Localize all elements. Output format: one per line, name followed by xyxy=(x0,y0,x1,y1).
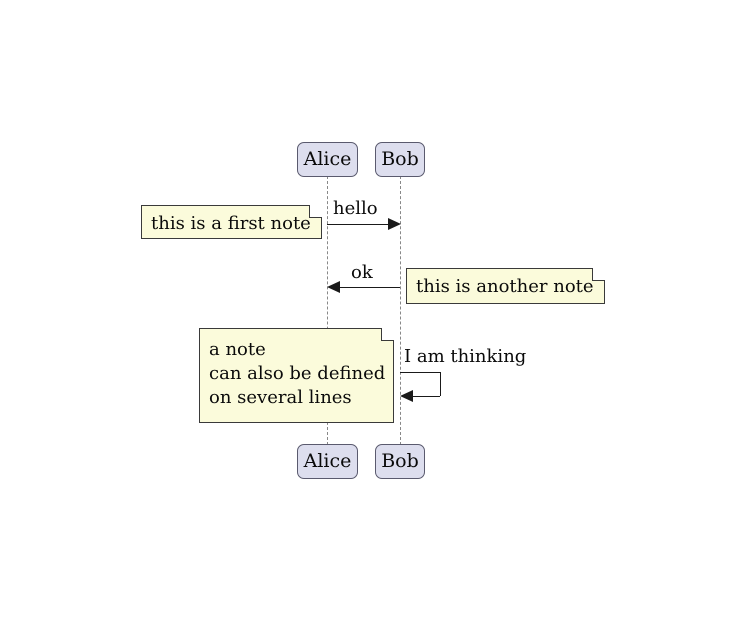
note-text-line: this is a first note xyxy=(151,212,309,236)
note-first-note[interactable]: this is a first note xyxy=(141,205,322,239)
note-text-line: this is another note xyxy=(416,275,592,299)
sequence-diagram-canvas: Alice Bob this is a first note hello ok … xyxy=(0,0,746,620)
note-text-line: can also be defined xyxy=(209,362,381,386)
message-arrowhead-ok xyxy=(327,281,340,293)
note-fold-icon xyxy=(309,205,322,218)
note-second-note[interactable]: this is another note xyxy=(406,268,605,304)
self-message-arrowhead xyxy=(400,390,413,402)
note-text-line: on several lines xyxy=(209,386,381,410)
note-multiline-note[interactable]: a note can also be defined on several li… xyxy=(199,328,394,423)
participant-label: Alice xyxy=(304,452,352,471)
self-message-right-line xyxy=(440,372,441,396)
self-message-bottom-line xyxy=(412,396,440,397)
participant-alice-bottom[interactable]: Alice xyxy=(297,444,358,479)
message-label-ok: ok xyxy=(351,264,373,282)
participant-alice-top[interactable]: Alice xyxy=(297,142,358,177)
message-line-hello xyxy=(327,224,389,225)
participant-label: Bob xyxy=(381,150,419,169)
participant-label: Bob xyxy=(381,452,419,471)
message-label-thinking: I am thinking xyxy=(404,348,526,366)
message-label-hello: hello xyxy=(333,200,378,218)
note-fold-icon xyxy=(592,268,605,281)
participant-bob-bottom[interactable]: Bob xyxy=(375,444,425,479)
note-fold-icon xyxy=(381,328,394,341)
message-line-ok xyxy=(339,287,400,288)
message-arrowhead-hello xyxy=(388,218,401,230)
lifeline-bob xyxy=(400,176,401,445)
note-text-line: a note xyxy=(209,338,381,362)
participant-label: Alice xyxy=(304,150,352,169)
self-message-top-line xyxy=(400,372,440,373)
participant-bob-top[interactable]: Bob xyxy=(375,142,425,177)
